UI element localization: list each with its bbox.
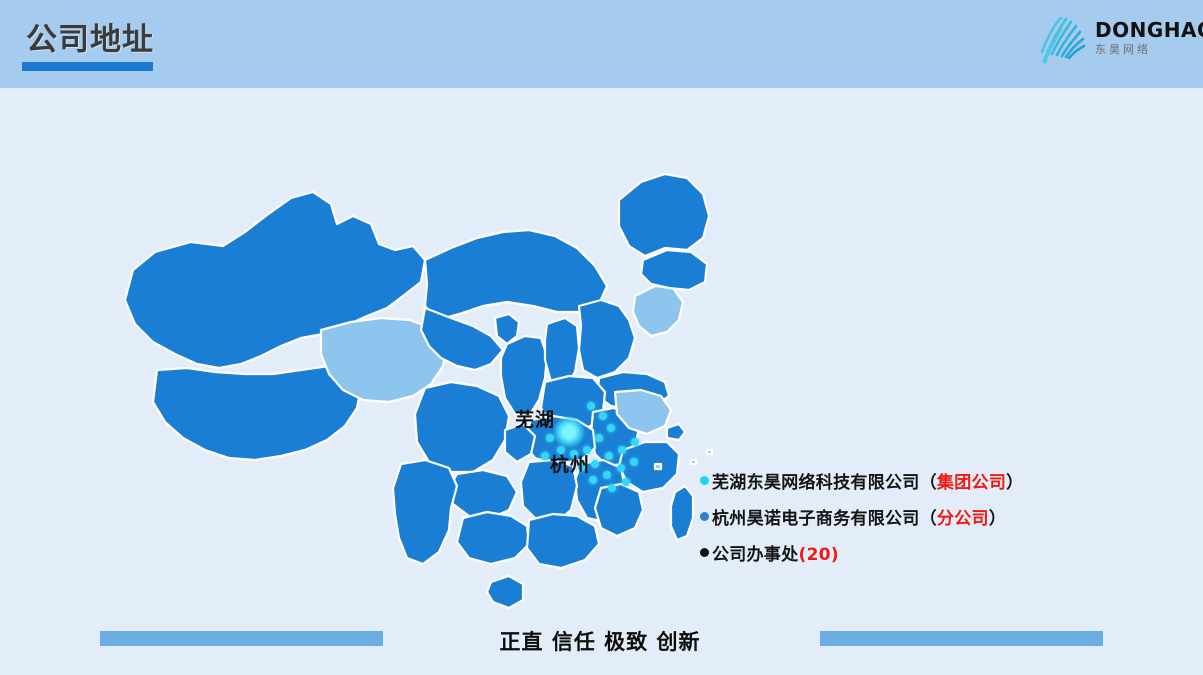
logo-chinese-name: 东昊网络: [1095, 42, 1195, 57]
island-dot-1: [655, 464, 661, 469]
province-guizhou: [449, 470, 517, 518]
china-map-svg: [95, 120, 715, 620]
province-heilongjiang: [619, 174, 709, 256]
china-map[interactable]: 芜湖杭州: [95, 120, 715, 620]
legend-label-headquarters: 芜湖东昊网络科技有限公司（集团公司）: [712, 468, 1023, 493]
province-liaoning: [633, 286, 683, 336]
legend-item-offices[interactable]: 公司办事处(20): [700, 534, 1120, 570]
province-guangxi: [457, 512, 529, 564]
logo-english-name: DONGHAO: [1095, 19, 1195, 41]
black-bullet-icon: [700, 548, 709, 557]
province-sichuan: [415, 382, 509, 472]
province-zhejiang: [619, 442, 679, 492]
province-tibet: [153, 366, 361, 460]
footer-bar-right: [820, 631, 1103, 646]
province-shaanxi: [501, 336, 547, 416]
province-hainan: [487, 576, 523, 608]
feather-fan-logo-icon: [1033, 10, 1095, 72]
province-shanghai: [667, 424, 685, 440]
legend-item-headquarters[interactable]: 芜湖东昊网络科技有限公司（集团公司）: [700, 462, 1120, 498]
footer-bar-left: [100, 631, 383, 646]
legend-item-branch[interactable]: 杭州昊诺电子商务有限公司（分公司）: [700, 498, 1120, 534]
province-guangdong: [527, 514, 599, 568]
province-hunan: [521, 460, 577, 522]
legend-label-branch: 杭州昊诺电子商务有限公司（分公司）: [712, 504, 1006, 529]
title-underline-bar: [22, 62, 153, 71]
logo-text-block: DONGHAO 东昊网络: [1095, 19, 1195, 57]
company-logo: DONGHAO 东昊网络: [1033, 8, 1193, 74]
slide-root: 公司地址 DONGHAO: [0, 0, 1203, 675]
island-dot-3: [707, 450, 712, 454]
cyan-bullet-icon: [700, 476, 709, 485]
legend-label-offices: 公司办事处(20): [712, 540, 839, 565]
province-jilin: [641, 250, 707, 290]
province-yunnan: [393, 460, 457, 564]
province-fujian: [595, 484, 643, 536]
legend-list: 芜湖东昊网络科技有限公司（集团公司） 杭州昊诺电子商务有限公司（分公司） 公司办…: [700, 462, 1120, 570]
page-title: 公司地址: [26, 21, 154, 59]
blue-bullet-icon: [700, 512, 709, 521]
slide-header: 公司地址 DONGHAO: [0, 0, 1203, 88]
province-taiwan: [671, 486, 693, 540]
province-hebei: [579, 300, 635, 378]
island-dot-2: [691, 460, 696, 464]
footer-slogan: 正直 信任 极致 创新: [455, 626, 745, 656]
